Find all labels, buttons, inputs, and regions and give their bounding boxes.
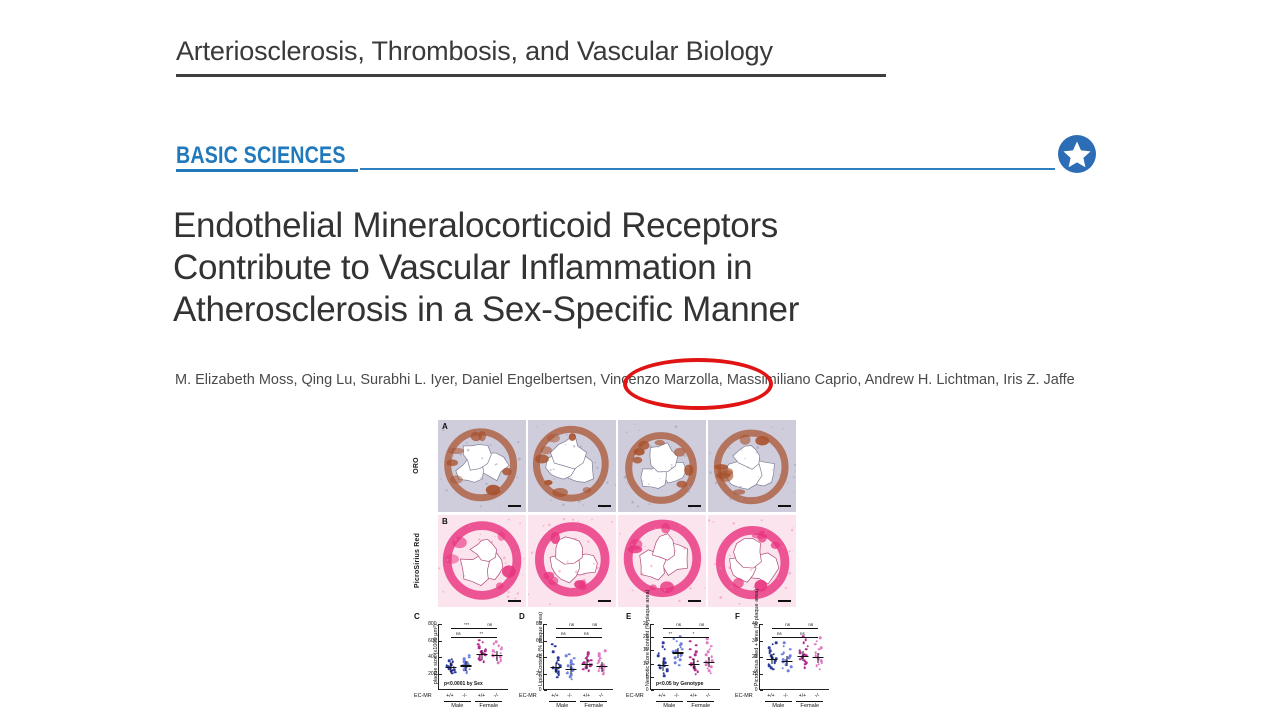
y-tick-label: 15 — [643, 647, 651, 653]
y-tick-label: 10 — [752, 671, 760, 677]
data-point — [551, 643, 554, 646]
data-point — [664, 648, 667, 651]
x-axis-label: EC-MR — [519, 693, 537, 699]
data-point — [807, 645, 810, 648]
data-point — [566, 671, 569, 674]
sex-group-underline — [765, 701, 792, 702]
micrograph-oro — [618, 420, 706, 512]
y-tick-label: 25 — [643, 621, 651, 627]
scatter-panel-c: Cplaque size (x1000 µm²)200400600800***n… — [412, 616, 516, 714]
data-point — [492, 650, 495, 653]
slide-canvas: Arteriosclerosis, Thrombosis, and Vascul… — [0, 0, 1280, 720]
data-point — [790, 665, 793, 668]
sex-group-label: Male — [556, 703, 568, 709]
data-point — [705, 653, 708, 656]
scatter-panel-f: FPicroSirius Red + area (% plaque area)0… — [733, 616, 837, 714]
data-point — [499, 658, 502, 661]
genotype-label: -/- — [567, 693, 572, 699]
error-bar — [602, 662, 603, 672]
data-point — [789, 648, 792, 651]
panel-letter-a: A — [442, 422, 448, 431]
data-point — [482, 660, 485, 663]
sex-group-label: Female — [691, 703, 710, 709]
data-point — [782, 651, 785, 654]
sex-group-underline — [444, 701, 471, 702]
significance-bar — [663, 628, 695, 629]
genotype-label: +/+ — [658, 693, 665, 699]
micrograph-oro — [438, 420, 526, 512]
data-point — [451, 658, 454, 661]
micrograph-image — [528, 420, 616, 512]
data-point — [500, 646, 503, 649]
data-point — [598, 652, 601, 655]
data-point — [787, 670, 790, 673]
y-tick-label: 600 — [428, 638, 439, 644]
data-point — [587, 670, 590, 673]
data-point — [771, 643, 774, 646]
data-point — [679, 659, 682, 662]
row-label-oro: ORO — [413, 457, 420, 474]
data-point — [680, 642, 683, 645]
panel-letter-e: E — [626, 612, 631, 621]
data-point — [710, 645, 713, 648]
data-point — [768, 646, 771, 649]
y-tick-label: 800 — [428, 621, 439, 627]
y-tick-label: 5 — [646, 674, 651, 680]
sex-group-label: Female — [800, 703, 819, 709]
scale-bar — [688, 600, 701, 602]
genotype-label: +/+ — [583, 693, 590, 699]
data-point — [603, 671, 606, 674]
sex-group-label: Male — [663, 703, 675, 709]
micrograph-oro — [708, 420, 796, 512]
data-point — [558, 670, 561, 673]
significance-bar — [571, 637, 603, 638]
data-point — [599, 657, 602, 660]
sex-group-underline — [687, 701, 714, 702]
section-rule — [360, 168, 1055, 170]
genotype-label: -/- — [815, 693, 820, 699]
data-point — [657, 655, 660, 658]
error-bar — [497, 651, 498, 661]
data-point — [696, 671, 699, 674]
data-point — [680, 653, 683, 656]
data-point — [689, 640, 692, 643]
page-title: Endothelial Mineralocorticoid Receptors … — [173, 205, 993, 331]
sex-group-label: Female — [479, 703, 498, 709]
author-list: M. Elizabeth Moss, Qing Lu, Surabhi L. I… — [175, 370, 1080, 391]
significance-label: ns — [584, 631, 589, 636]
data-point — [819, 637, 822, 640]
journal-title-rule — [176, 74, 886, 77]
data-point — [710, 665, 713, 668]
data-point — [659, 667, 662, 670]
genotype-label: -/- — [674, 693, 679, 699]
significance-label: ns — [777, 631, 782, 636]
data-point — [657, 652, 660, 655]
data-point — [570, 660, 573, 663]
row-label-picrosirius: PicroSirius Red — [414, 533, 421, 588]
data-point — [694, 653, 697, 656]
significance-label: ns — [456, 631, 461, 636]
micrograph-image — [618, 420, 706, 512]
data-point — [466, 661, 469, 664]
data-point — [495, 640, 498, 643]
plot-area: 020406080nsnsnsns — [543, 624, 613, 690]
article-title-line-1: Endothelial Mineralocorticoid Receptors — [173, 205, 993, 247]
significance-label: ns — [699, 622, 704, 627]
significance-label: * — [692, 631, 694, 636]
data-point — [557, 656, 560, 659]
y-tick-label: 30 — [752, 638, 760, 644]
data-point — [492, 643, 495, 646]
data-point — [706, 642, 709, 645]
data-point — [552, 651, 555, 654]
data-point — [694, 673, 697, 676]
significance-bar — [787, 637, 819, 638]
micrograph-picrosirius — [618, 515, 706, 607]
data-point — [597, 670, 600, 673]
genotype-label: -/- — [599, 693, 604, 699]
data-point — [468, 668, 471, 671]
panel-letter-f: F — [735, 612, 740, 621]
plot-area: 010203040nsnsnsns — [759, 624, 829, 690]
sex-group-label: Male — [451, 703, 463, 709]
data-point — [816, 640, 819, 643]
genotype-label: +/+ — [767, 693, 774, 699]
scale-bar — [778, 600, 791, 602]
significance-label: *** — [464, 622, 469, 627]
y-tick-label: 200 — [428, 671, 439, 677]
scale-bar — [508, 505, 521, 507]
error-bar — [786, 656, 787, 666]
significance-label: ns — [808, 622, 813, 627]
y-tick-label: 60 — [536, 638, 544, 644]
scatter-panel-d: DLipid Content (% plaque area)020406080n… — [517, 616, 621, 714]
data-point — [804, 666, 807, 669]
panel-letter-c: C — [414, 612, 420, 621]
significance-bar — [803, 628, 818, 629]
x-axis-label: EC-MR — [414, 693, 432, 699]
significance-label: ns — [785, 622, 790, 627]
genotype-label: +/+ — [799, 693, 806, 699]
article-title-line-3: Atherosclerosis in a Sex-Specific Manner — [173, 289, 993, 331]
data-point — [798, 650, 801, 653]
journal-title: Arteriosclerosis, Thrombosis, and Vascul… — [176, 36, 773, 67]
data-point — [587, 651, 590, 654]
data-point — [484, 648, 487, 651]
data-point — [775, 642, 778, 645]
significance-bar — [663, 637, 678, 638]
micrograph-image — [528, 515, 616, 607]
sex-group-label: Female — [584, 703, 603, 709]
data-point — [689, 656, 692, 659]
data-point — [571, 678, 574, 681]
error-bar — [482, 650, 483, 660]
data-point — [604, 650, 607, 653]
data-point — [782, 645, 785, 648]
error-bar — [662, 661, 663, 671]
data-point — [803, 642, 806, 645]
data-point — [767, 663, 770, 666]
data-point — [709, 672, 712, 675]
genotype-label: -/- — [783, 693, 788, 699]
genotype-label: -/- — [494, 693, 499, 699]
genotype-label: +/+ — [690, 693, 697, 699]
data-point — [769, 650, 772, 653]
significance-bar — [451, 637, 466, 638]
y-tick-label: 400 — [428, 654, 439, 660]
y-tick-label: 20 — [752, 654, 760, 660]
data-point — [695, 651, 698, 654]
y-tick-label: 10 — [643, 661, 651, 667]
data-point — [463, 658, 466, 661]
data-point — [689, 648, 692, 651]
y-tick-label: 0 — [755, 687, 760, 693]
star-badge-icon — [1057, 134, 1097, 174]
significance-label: ns — [800, 631, 805, 636]
p-value-note: p<0.0001 by Sex — [444, 681, 483, 687]
genotype-label: +/+ — [478, 693, 485, 699]
micrograph-image — [438, 515, 526, 607]
data-point — [783, 642, 786, 645]
data-point — [662, 642, 665, 645]
sex-group-underline — [580, 701, 607, 702]
error-bar — [709, 657, 710, 667]
data-point — [478, 639, 481, 642]
genotype-label: +/+ — [446, 693, 453, 699]
y-tick-label: 40 — [752, 621, 760, 627]
p-value-note: p<0.05 by Genotype — [656, 681, 703, 687]
data-point — [598, 655, 601, 658]
significance-label: ** — [480, 631, 484, 636]
y-tick-label: 40 — [536, 654, 544, 660]
significance-label: ns — [561, 631, 566, 636]
error-bar — [771, 654, 772, 664]
data-point — [666, 668, 669, 671]
significance-bar — [772, 637, 787, 638]
data-point — [804, 638, 807, 641]
y-tick-label: 0 — [646, 687, 651, 693]
data-point — [818, 668, 821, 671]
micrograph-image — [438, 420, 526, 512]
genotype-label: -/- — [706, 693, 711, 699]
data-point — [556, 676, 559, 679]
data-point — [710, 656, 713, 659]
micrograph-oro — [528, 420, 616, 512]
data-point — [663, 672, 666, 675]
data-point — [568, 653, 571, 656]
scale-bar — [688, 505, 701, 507]
micrograph-image — [708, 420, 796, 512]
sex-group-underline — [656, 701, 683, 702]
micrograph-image — [618, 515, 706, 607]
panel-letter-d: D — [519, 612, 525, 621]
data-point — [814, 643, 817, 646]
micrograph-picrosirius — [708, 515, 796, 607]
micrograph-row-picrosirius — [438, 515, 796, 607]
data-point — [554, 645, 557, 648]
data-point — [708, 648, 711, 651]
significance-label: ns — [487, 622, 492, 627]
data-point — [663, 657, 666, 660]
data-point — [663, 675, 666, 678]
data-point — [662, 645, 665, 648]
significance-bar — [466, 637, 498, 638]
data-point — [781, 667, 784, 670]
genotype-label: -/- — [462, 693, 467, 699]
error-bar — [555, 663, 556, 673]
sex-group-underline — [549, 701, 576, 702]
y-tick-label: 80 — [536, 621, 544, 627]
error-bar — [587, 659, 588, 669]
y-tick-label: 20 — [643, 634, 651, 640]
error-bar — [450, 663, 451, 673]
significance-label: ns — [676, 622, 681, 627]
data-point — [468, 654, 471, 657]
error-bar — [465, 661, 466, 671]
y-tick-label: 0 — [539, 687, 544, 693]
micrograph-picrosirius — [438, 515, 526, 607]
error-bar — [570, 664, 571, 674]
data-point — [773, 653, 776, 656]
error-bar — [818, 653, 819, 663]
data-point — [453, 668, 456, 671]
data-point — [678, 664, 681, 667]
significance-bar — [678, 637, 710, 638]
data-point — [707, 667, 710, 670]
y-tick-label: 20 — [536, 671, 544, 677]
x-axis-label: EC-MR — [626, 693, 644, 699]
micrograph-row-oro — [438, 420, 796, 512]
data-point — [820, 646, 823, 649]
significance-bar — [451, 628, 483, 629]
sex-group-underline — [796, 701, 823, 702]
data-point — [498, 644, 501, 647]
article-title-line-2: Contribute to Vascular Inflammation in — [173, 247, 993, 289]
micrograph-picrosirius — [528, 515, 616, 607]
data-point — [451, 660, 454, 663]
scale-bar — [778, 505, 791, 507]
scale-bar — [598, 600, 611, 602]
scale-bar — [598, 505, 611, 507]
data-point — [820, 660, 823, 663]
data-point — [481, 641, 484, 644]
significance-bar — [556, 637, 571, 638]
significance-bar — [772, 628, 804, 629]
sex-group-underline — [475, 701, 502, 702]
data-point — [590, 659, 593, 662]
data-point — [454, 671, 457, 674]
significance-bar — [694, 628, 709, 629]
genotype-label: +/+ — [551, 693, 558, 699]
significance-label: ** — [668, 631, 672, 636]
significance-bar — [587, 628, 602, 629]
error-bar — [694, 659, 695, 669]
data-point — [674, 661, 677, 664]
figure-panel: ORO PicroSirius Red A B Cplaque size (x1… — [412, 420, 830, 718]
section-label: BASIC SCIENCES — [176, 142, 346, 170]
significance-label: ns — [569, 622, 574, 627]
significance-bar — [556, 628, 588, 629]
data-point — [675, 640, 678, 643]
data-point — [477, 643, 480, 646]
data-point — [697, 660, 700, 663]
error-bar — [677, 648, 678, 658]
data-point — [557, 659, 560, 662]
data-point — [707, 651, 710, 654]
data-point — [695, 644, 698, 647]
section-label-underline — [176, 169, 358, 172]
sex-group-label: Male — [772, 703, 784, 709]
data-point — [789, 655, 792, 658]
error-bar — [803, 651, 804, 661]
data-point — [573, 657, 576, 660]
significance-label: ns — [592, 622, 597, 627]
data-point — [805, 648, 808, 651]
scatter-panel-e: ENecrotic Core Content (% plaque area)05… — [624, 616, 728, 714]
micrograph-image — [708, 515, 796, 607]
significance-bar — [482, 628, 497, 629]
data-point — [567, 665, 570, 668]
scale-bar — [508, 600, 521, 602]
panel-letter-b: B — [442, 517, 448, 526]
x-axis-label: EC-MR — [735, 693, 753, 699]
